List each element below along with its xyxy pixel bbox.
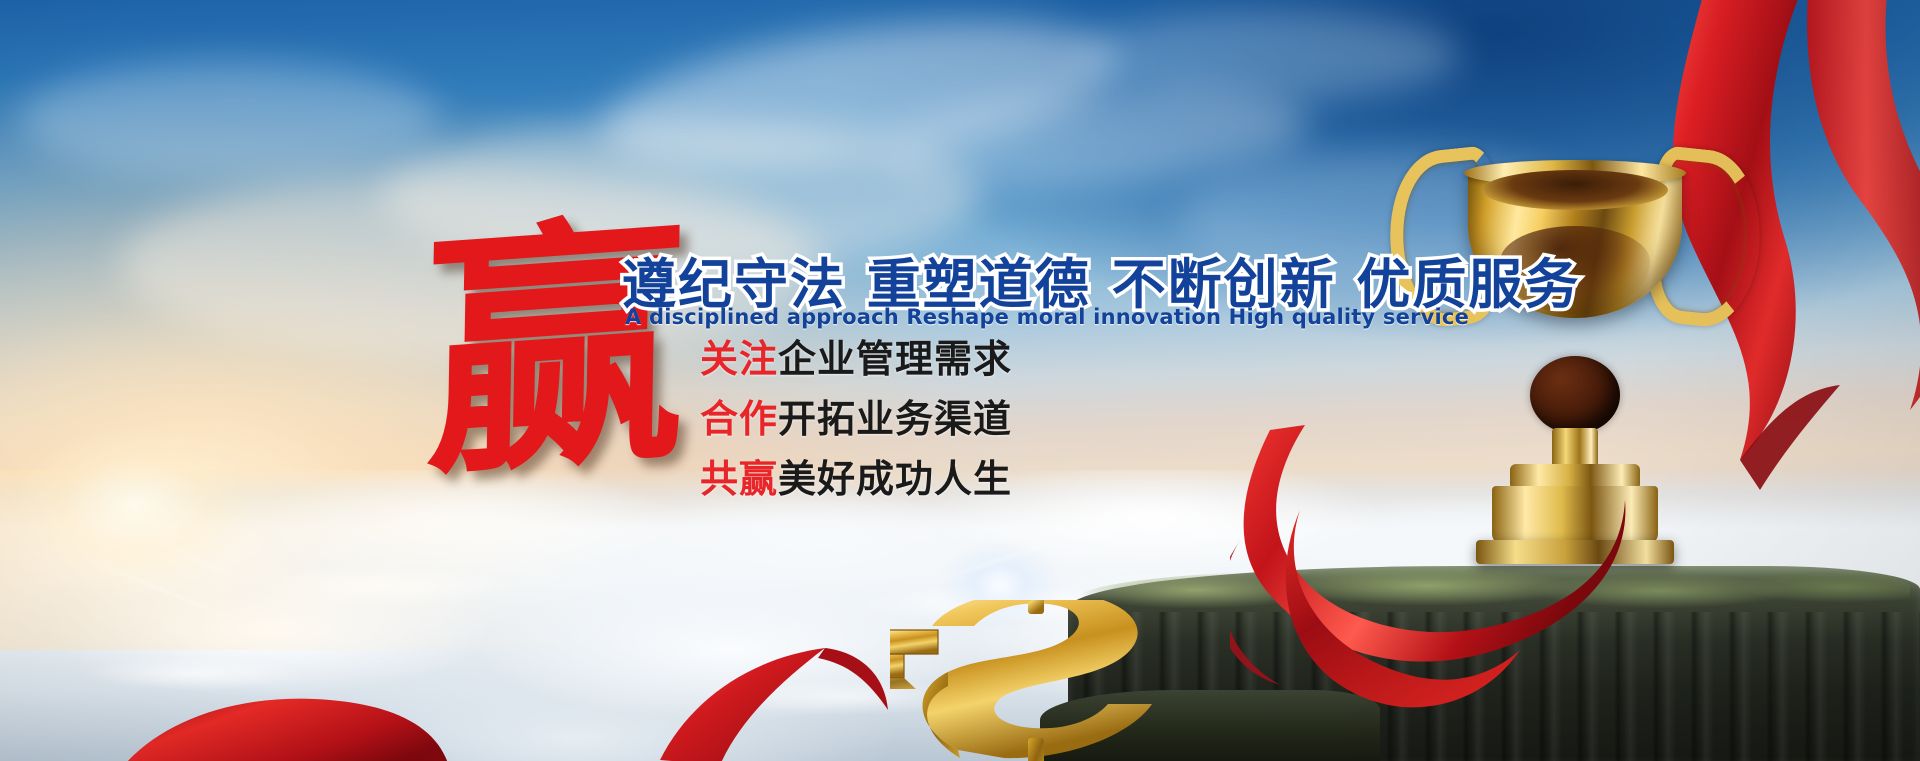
cloud-wisp (1080, 10, 1460, 100)
cloud-wisp (20, 60, 440, 180)
red-silk-ribbon-bottom-left (120, 690, 450, 761)
trophy-bowl-interior (1482, 170, 1668, 210)
sun-core-glow (20, 430, 250, 580)
gold-dollar-sign (890, 600, 1220, 761)
red-silk-ribbon-drape (1280, 510, 1540, 750)
promotional-banner: 赢 遵纪守法 重塑道德 不断创新 优质服务 A disciplined appr… (0, 0, 1920, 761)
red-silk-ribbon-small-center (660, 640, 890, 761)
trophy-stem (1550, 314, 1600, 362)
